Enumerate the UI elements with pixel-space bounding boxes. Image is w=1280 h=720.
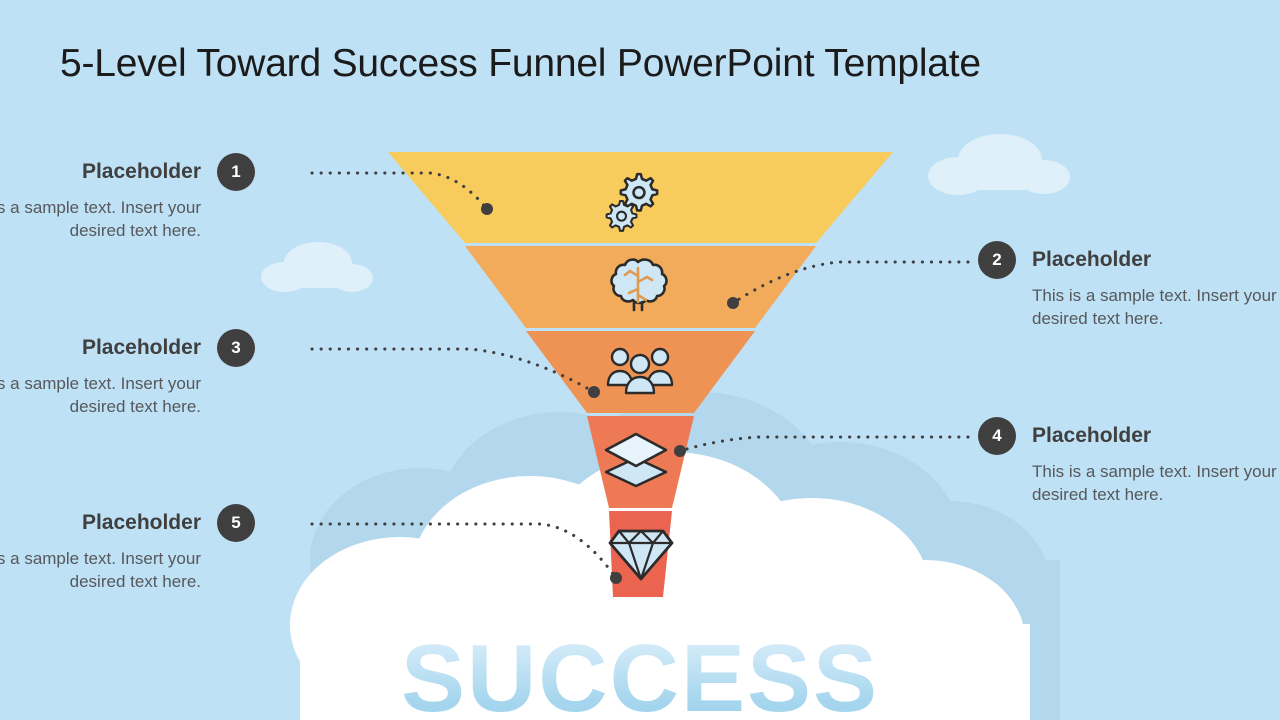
callout-3-head: Placeholder 3	[0, 328, 255, 368]
callout-3-body: This is a sample text. Insert your desir…	[0, 372, 255, 418]
callout-1-title: Placeholder	[82, 160, 201, 184]
callout-2-body: This is a sample text. Insert your desir…	[978, 284, 1278, 330]
callout-3[interactable]: Placeholder 3 This is a sample text. Ins…	[0, 328, 255, 418]
callout-1-body: This is a sample text. Insert your desir…	[0, 196, 255, 242]
callout-4-title: Placeholder	[1032, 424, 1151, 448]
callout-1-badge[interactable]: 1	[217, 153, 255, 191]
callout-4[interactable]: 4 Placeholder This is a sample text. Ins…	[978, 416, 1278, 506]
callout-2-head: 2 Placeholder	[978, 240, 1278, 280]
callout-2-title: Placeholder	[1032, 248, 1151, 272]
callout-3-badge[interactable]: 3	[217, 329, 255, 367]
callout-5[interactable]: Placeholder 5 This is a sample text. Ins…	[0, 503, 255, 593]
callout-5-head: Placeholder 5	[0, 503, 255, 543]
connector-line-5	[312, 524, 616, 578]
connector-line-4	[680, 437, 968, 451]
callout-1[interactable]: Placeholder 1 This is a sample text. Ins…	[0, 152, 255, 242]
callout-1-head: Placeholder 1	[0, 152, 255, 192]
callout-2-badge[interactable]: 2	[978, 241, 1016, 279]
callout-5-badge[interactable]: 5	[217, 504, 255, 542]
slide-canvas: 5-Level Toward Success Funnel PowerPoint…	[0, 0, 1280, 720]
callout-4-head: 4 Placeholder	[978, 416, 1278, 456]
callout-4-body: This is a sample text. Insert your desir…	[978, 460, 1278, 506]
callout-5-title: Placeholder	[82, 511, 201, 535]
callout-4-badge[interactable]: 4	[978, 417, 1016, 455]
callout-2[interactable]: 2 Placeholder This is a sample text. Ins…	[978, 240, 1278, 330]
callout-3-title: Placeholder	[82, 336, 201, 360]
callout-5-body: This is a sample text. Insert your desir…	[0, 547, 255, 593]
